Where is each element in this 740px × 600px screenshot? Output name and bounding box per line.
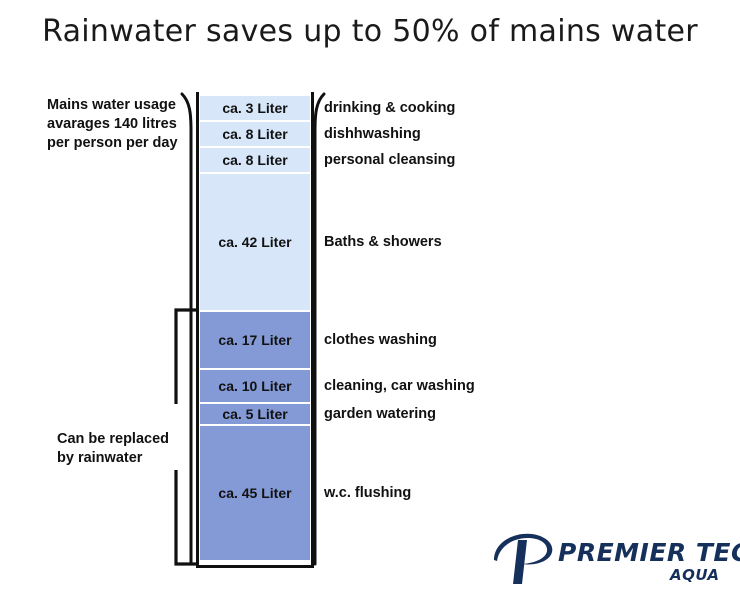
bar-segment-clothes-washing[interactable]: ca. 17 Liter [200, 312, 310, 368]
bar-segment-value: ca. 42 Liter [218, 234, 291, 250]
category-label-personal-cleansing: personal cleansing [324, 152, 455, 168]
water-usage-bar-stack: ca. 3 Liter ca. 8 Liter ca. 8 Liter ca. … [200, 96, 310, 562]
category-label-baths-showers: Baths & showers [324, 234, 442, 250]
category-label-garden-watering: garden watering [324, 406, 436, 422]
bar-segment-dishwashing[interactable]: ca. 8 Liter [200, 122, 310, 146]
premier-tech-aqua-logo: PREMIER TECH AQUA [492, 530, 728, 590]
bar-segment-value: ca. 8 Liter [222, 126, 287, 142]
category-label-cleaning-car-washing: cleaning, car washing [324, 378, 475, 394]
bar-segment-cleaning-car-washing[interactable]: ca. 10 Liter [200, 370, 310, 402]
category-label-wc-flushing: w.c. flushing [324, 485, 411, 501]
bar-segment-drinking-cooking[interactable]: ca. 3 Liter [200, 96, 310, 120]
bar-segment-personal-cleansing[interactable]: ca. 8 Liter [200, 148, 310, 172]
category-label-dishwashing: dishhwashing [324, 126, 421, 142]
bar-segment-wc-flushing[interactable]: ca. 45 Liter [200, 426, 310, 560]
premier-tech-p-swoosh-icon [492, 530, 558, 586]
bar-segment-value: ca. 10 Liter [218, 378, 291, 394]
logo-wordmark: PREMIER TECH [558, 538, 740, 567]
logo-subtitle: AQUA [670, 566, 719, 584]
bar-segment-value: ca. 45 Liter [218, 485, 291, 501]
rainwater-replacement-note: Can be replaced by rainwater [57, 430, 182, 468]
bar-segment-value: ca. 3 Liter [222, 100, 287, 116]
bar-segment-value: ca. 5 Liter [222, 406, 287, 422]
category-label-drinking-cooking: drinking & cooking [324, 100, 455, 116]
category-label-clothes-washing: clothes washing [324, 332, 437, 348]
bar-segment-baths-showers[interactable]: ca. 42 Liter [200, 174, 310, 310]
bar-segment-value: ca. 8 Liter [222, 152, 287, 168]
page-title: Rainwater saves up to 50% of mains water [0, 14, 740, 49]
bar-segment-garden-watering[interactable]: ca. 5 Liter [200, 404, 310, 424]
mains-water-note: Mains water usage avarages 140 litres pe… [47, 96, 182, 153]
bar-segment-value: ca. 17 Liter [218, 332, 291, 348]
